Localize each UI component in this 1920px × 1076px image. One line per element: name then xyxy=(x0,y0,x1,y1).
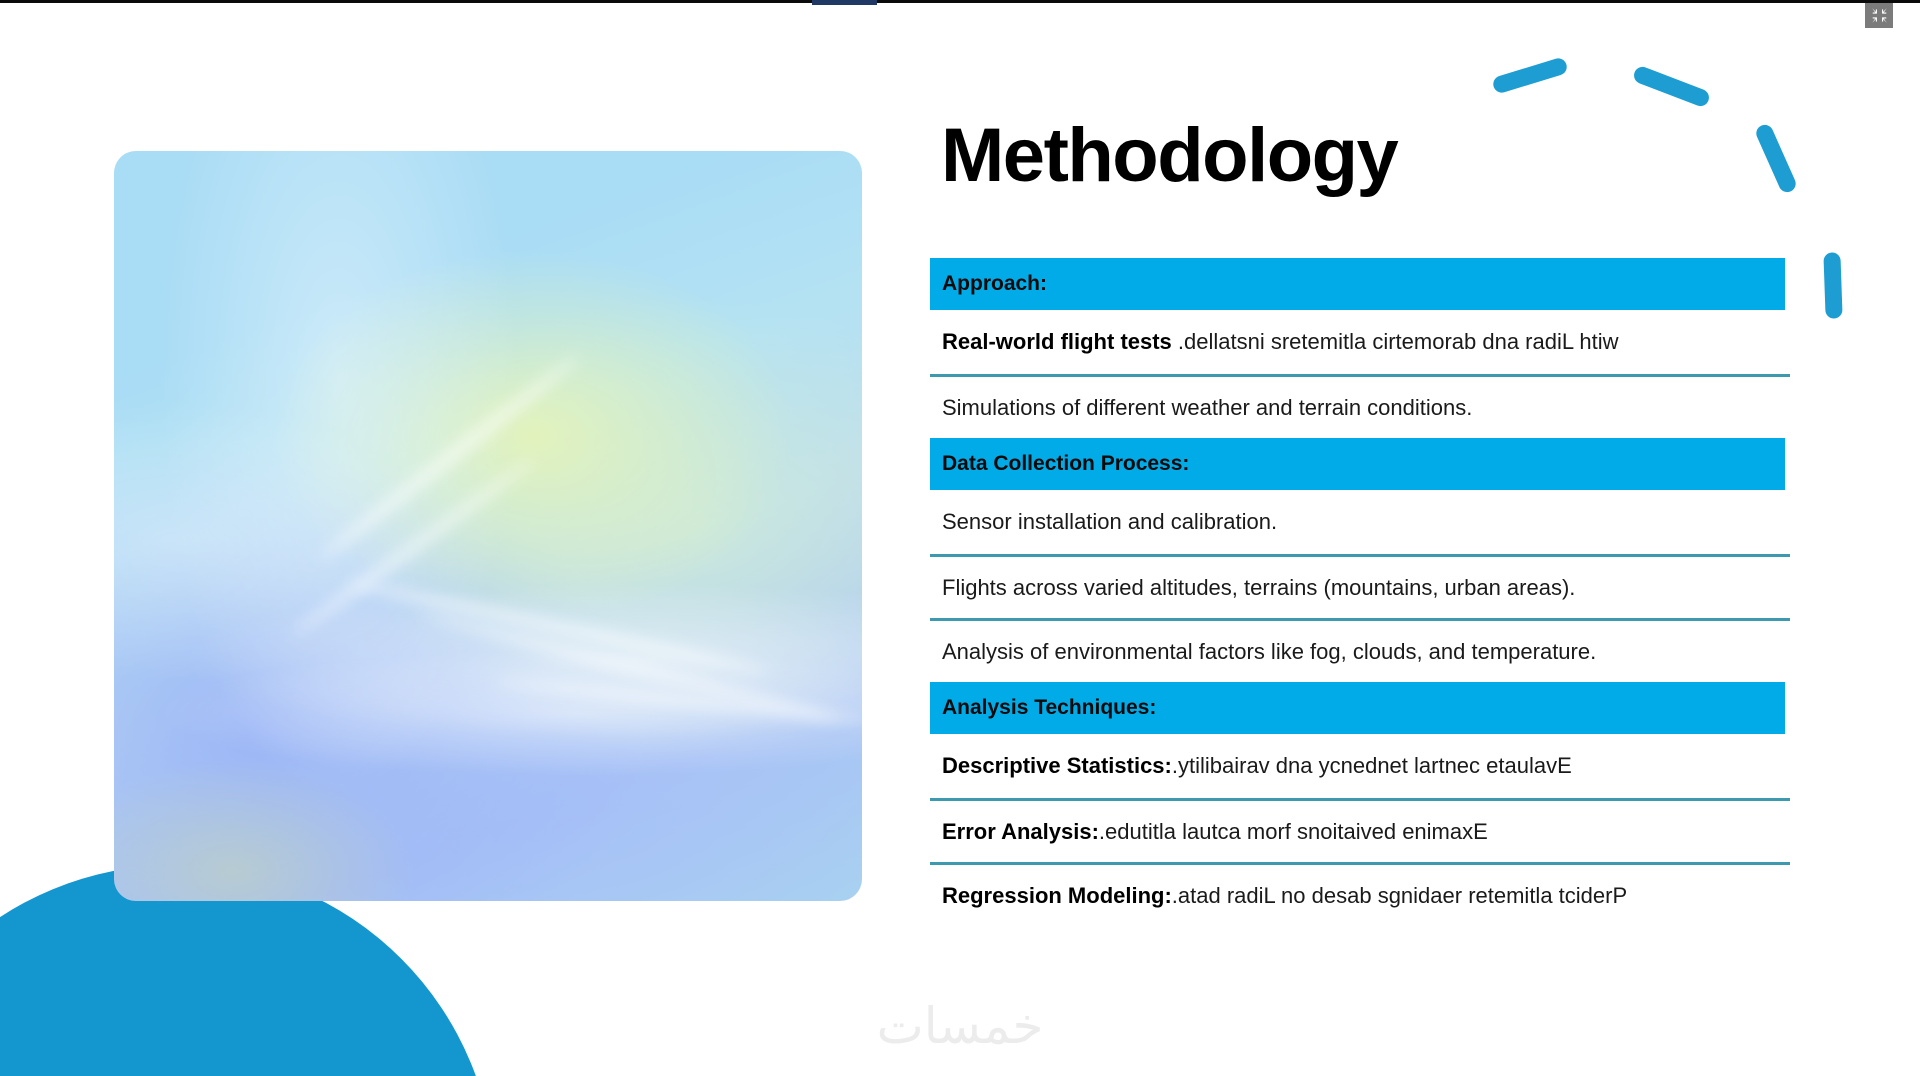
bullet-row-text: Simulations of different weather and ter… xyxy=(942,395,1472,421)
slide-image-card xyxy=(114,151,862,901)
bullet-row-body: Sensor installation and calibration. xyxy=(942,509,1277,534)
bullet-row-body: .atad radiL no desab sgnidaer retemitla … xyxy=(1172,883,1627,908)
bullet-row-body: .ytilibairav dna ycnednet lartnec etaula… xyxy=(1172,753,1572,778)
bullet-row-text: Sensor installation and calibration. xyxy=(942,509,1277,535)
bullet-row-text: Descriptive Statistics:.ytilibairav dna … xyxy=(942,753,1572,779)
methodology-rows: Approach:Real-world flight tests .dellat… xyxy=(930,258,1790,926)
bullet-row-body: .edutitla lautca morf snoitaived enimaxE xyxy=(1099,819,1488,844)
bullet-row: Error Analysis:.edutitla lautca morf sno… xyxy=(930,798,1790,862)
exit-fullscreen-button[interactable] xyxy=(1865,3,1893,28)
bullet-row: Analysis of environmental factors like f… xyxy=(930,618,1790,682)
top-divider-rule xyxy=(0,0,1920,3)
bullet-row-body: Flights across varied altitudes, terrain… xyxy=(942,575,1575,600)
bullet-row-text: Flights across varied altitudes, terrain… xyxy=(942,575,1575,601)
slide-canvas: Methodology Approach:Real-world flight t… xyxy=(0,0,1920,1076)
section-header-row: Data Collection Process: xyxy=(930,438,1785,490)
khamsat-watermark: خمسات xyxy=(845,995,1075,1057)
section-header-row: Analysis Techniques: xyxy=(930,682,1785,734)
bullet-row-body: Analysis of environmental factors like f… xyxy=(942,639,1596,664)
bullet-row-body: Simulations of different weather and ter… xyxy=(942,395,1472,420)
bullet-row: Real-world flight tests .dellatsni srete… xyxy=(930,310,1790,374)
section-header-row: Approach: xyxy=(930,258,1785,310)
page-title: Methodology xyxy=(941,118,1397,194)
section-header-label: Analysis Techniques: xyxy=(930,696,1156,720)
bullet-row-text: Real-world flight tests .dellatsni srete… xyxy=(942,329,1619,355)
bullet-row: Regression Modeling:.atad radiL no desab… xyxy=(930,862,1790,926)
watermark-arabic-text: خمسات xyxy=(845,995,1075,1057)
section-header-label: Approach: xyxy=(930,272,1047,296)
bullet-row-text: Regression Modeling:.atad radiL no desab… xyxy=(942,883,1627,909)
bullet-row: Sensor installation and calibration. xyxy=(930,490,1790,554)
bullet-row-body: .dellatsni sretemitla cirtemorab dna rad… xyxy=(1172,329,1619,354)
browser-tab-fragment[interactable] xyxy=(812,0,877,5)
bullet-row-text: Analysis of environmental factors like f… xyxy=(942,639,1596,665)
bullet-row-lead: Error Analysis: xyxy=(942,819,1099,844)
bullet-row-lead: Descriptive Statistics: xyxy=(942,753,1172,778)
bullet-row: Descriptive Statistics:.ytilibairav dna … xyxy=(930,734,1790,798)
image-gradient-layer-c xyxy=(114,151,862,901)
bullet-row-text: Error Analysis:.edutitla lautca morf sno… xyxy=(942,819,1488,845)
exit-fullscreen-icon xyxy=(1871,7,1888,24)
bullet-row: Simulations of different weather and ter… xyxy=(930,374,1790,438)
slide-content-column: Methodology Approach:Real-world flight t… xyxy=(930,0,1850,1076)
bullet-row: Flights across varied altitudes, terrain… xyxy=(930,554,1790,618)
bullet-row-lead: Regression Modeling: xyxy=(942,883,1172,908)
svg-text:خمسات: خمسات xyxy=(877,997,1044,1055)
section-header-label: Data Collection Process: xyxy=(930,452,1189,476)
decorative-dash-4 xyxy=(1823,252,1842,319)
bullet-row-lead: Real-world flight tests xyxy=(942,329,1172,354)
